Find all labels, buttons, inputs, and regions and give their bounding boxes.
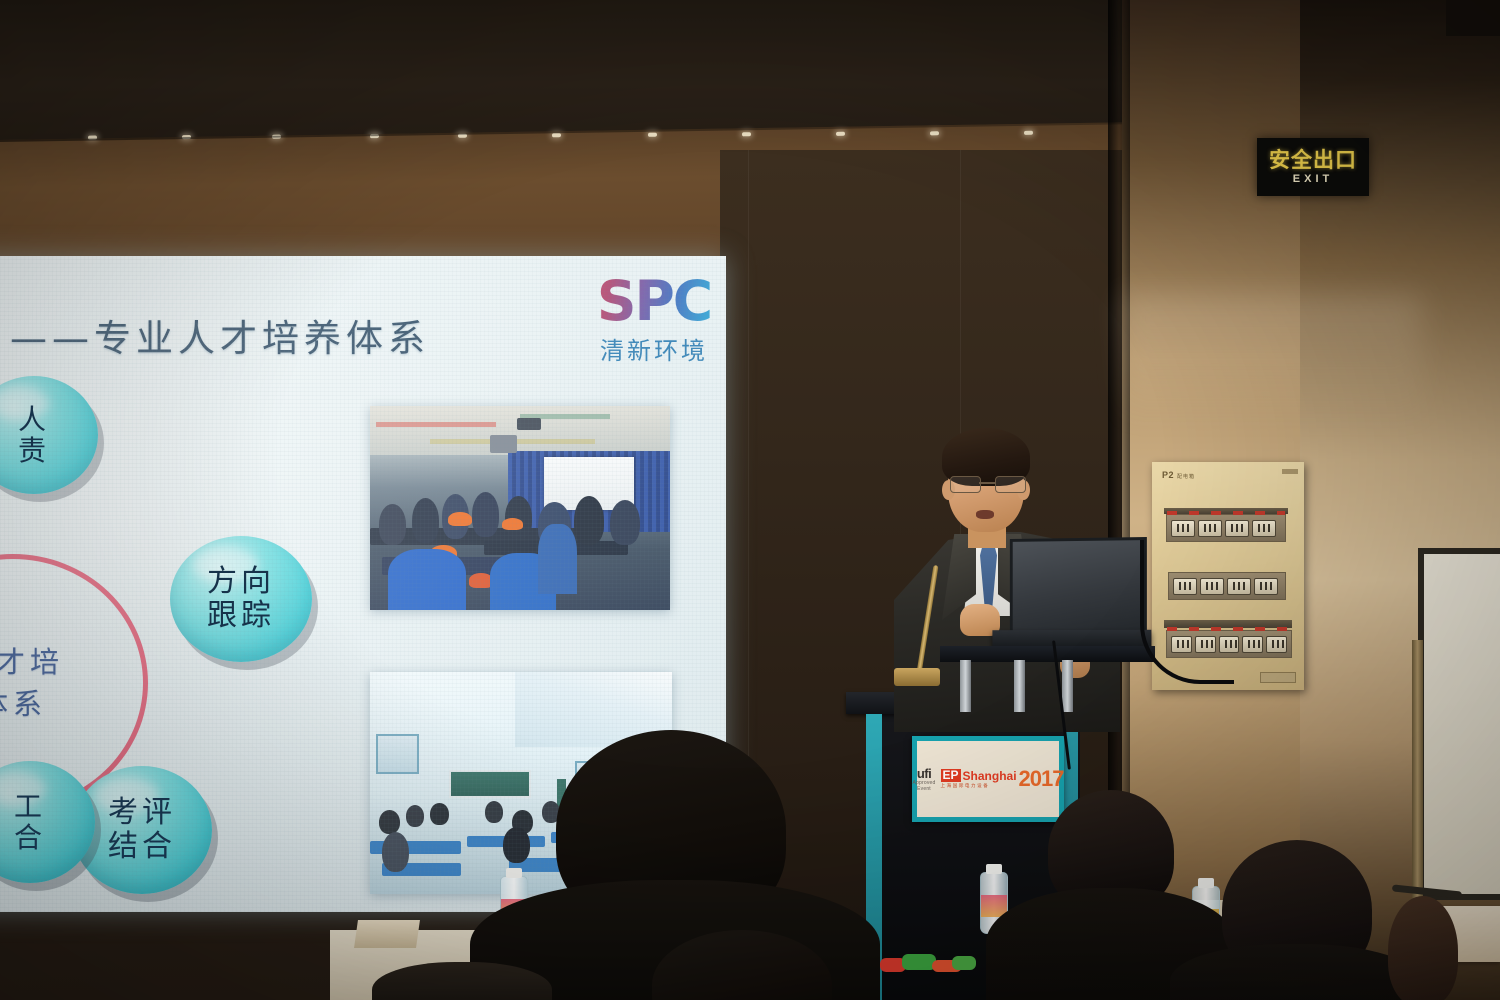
bubble-direction-tracking: 方向跟踪 bbox=[170, 536, 312, 662]
ep-chinese-subtitle: 上海国际电力设备 bbox=[941, 783, 1017, 789]
laptop-screen bbox=[1010, 537, 1147, 638]
eyeglasses bbox=[950, 476, 1024, 491]
ufi-approved-line1: Approved bbox=[913, 781, 936, 786]
podium-laptop-shelf bbox=[940, 646, 1155, 662]
ep-shanghai-logo: EP Shanghai 上海国际电力设备 2017 bbox=[941, 769, 1064, 789]
shelf-support-leg bbox=[960, 660, 971, 712]
core-circle-text: 人才培体系 bbox=[0, 641, 64, 725]
desk-ornament bbox=[880, 952, 976, 978]
panel-label-sub: 配电箱 bbox=[1177, 474, 1195, 480]
socket[interactable] bbox=[1252, 520, 1276, 537]
shelf-support-leg bbox=[1062, 660, 1073, 712]
exit-sign-english: EXIT bbox=[1293, 173, 1333, 185]
whiteboard bbox=[1418, 548, 1500, 900]
socket[interactable] bbox=[1198, 520, 1222, 537]
socket[interactable] bbox=[1266, 636, 1287, 653]
power-cable bbox=[1140, 540, 1234, 684]
ufi-approved-line2: Event bbox=[917, 787, 931, 792]
audience-head bbox=[1388, 896, 1458, 1000]
socket[interactable] bbox=[1254, 578, 1278, 595]
ufi-logo: ufi Approved Event bbox=[913, 767, 936, 792]
ep-city: Shanghai bbox=[963, 770, 1017, 782]
ufi-logo-text: ufi bbox=[917, 767, 931, 780]
spc-logo-mark: SPC bbox=[574, 274, 726, 329]
ep-badge: EP bbox=[941, 769, 961, 782]
podium-event-sign: ufi Approved Event EP Shanghai 上海国际电力设备 … bbox=[912, 736, 1064, 822]
slide-title: ——专业人才培养体系 bbox=[10, 308, 430, 362]
exit-sign-chinese: 安全出口 bbox=[1269, 150, 1357, 171]
presenter-mouth bbox=[976, 510, 994, 519]
socket[interactable] bbox=[1225, 520, 1249, 537]
exit-sign: 安全出口 EXIT bbox=[1257, 138, 1369, 196]
socket-row-1[interactable] bbox=[1166, 514, 1286, 542]
bubble-top-partial: 人责 bbox=[0, 376, 98, 494]
conference-presentation-photo: 安全出口 EXIT ——专业人才培养体系 SPC 清新环境 人才培体系 人责 方… bbox=[0, 0, 1500, 1000]
wall-seam bbox=[748, 150, 749, 770]
socket[interactable] bbox=[1242, 636, 1263, 653]
ceiling-fixture bbox=[1446, 0, 1500, 36]
spc-logo: SPC 清新环境 bbox=[574, 274, 726, 366]
shelf-support-leg bbox=[1014, 660, 1025, 712]
audience-name-card-left bbox=[354, 920, 420, 948]
ep-year: 2017 bbox=[1019, 770, 1064, 789]
panel-label: P2 配电箱 bbox=[1162, 470, 1195, 480]
panel-tag bbox=[1282, 469, 1298, 474]
panel-bottom-tag bbox=[1260, 672, 1296, 683]
microphone-base bbox=[894, 668, 940, 686]
slide-photo-training-classroom bbox=[370, 406, 670, 610]
socket[interactable] bbox=[1171, 520, 1195, 537]
wall-light-glow bbox=[1122, 295, 1422, 425]
spc-logo-subtitle: 清新环境 bbox=[574, 331, 726, 366]
